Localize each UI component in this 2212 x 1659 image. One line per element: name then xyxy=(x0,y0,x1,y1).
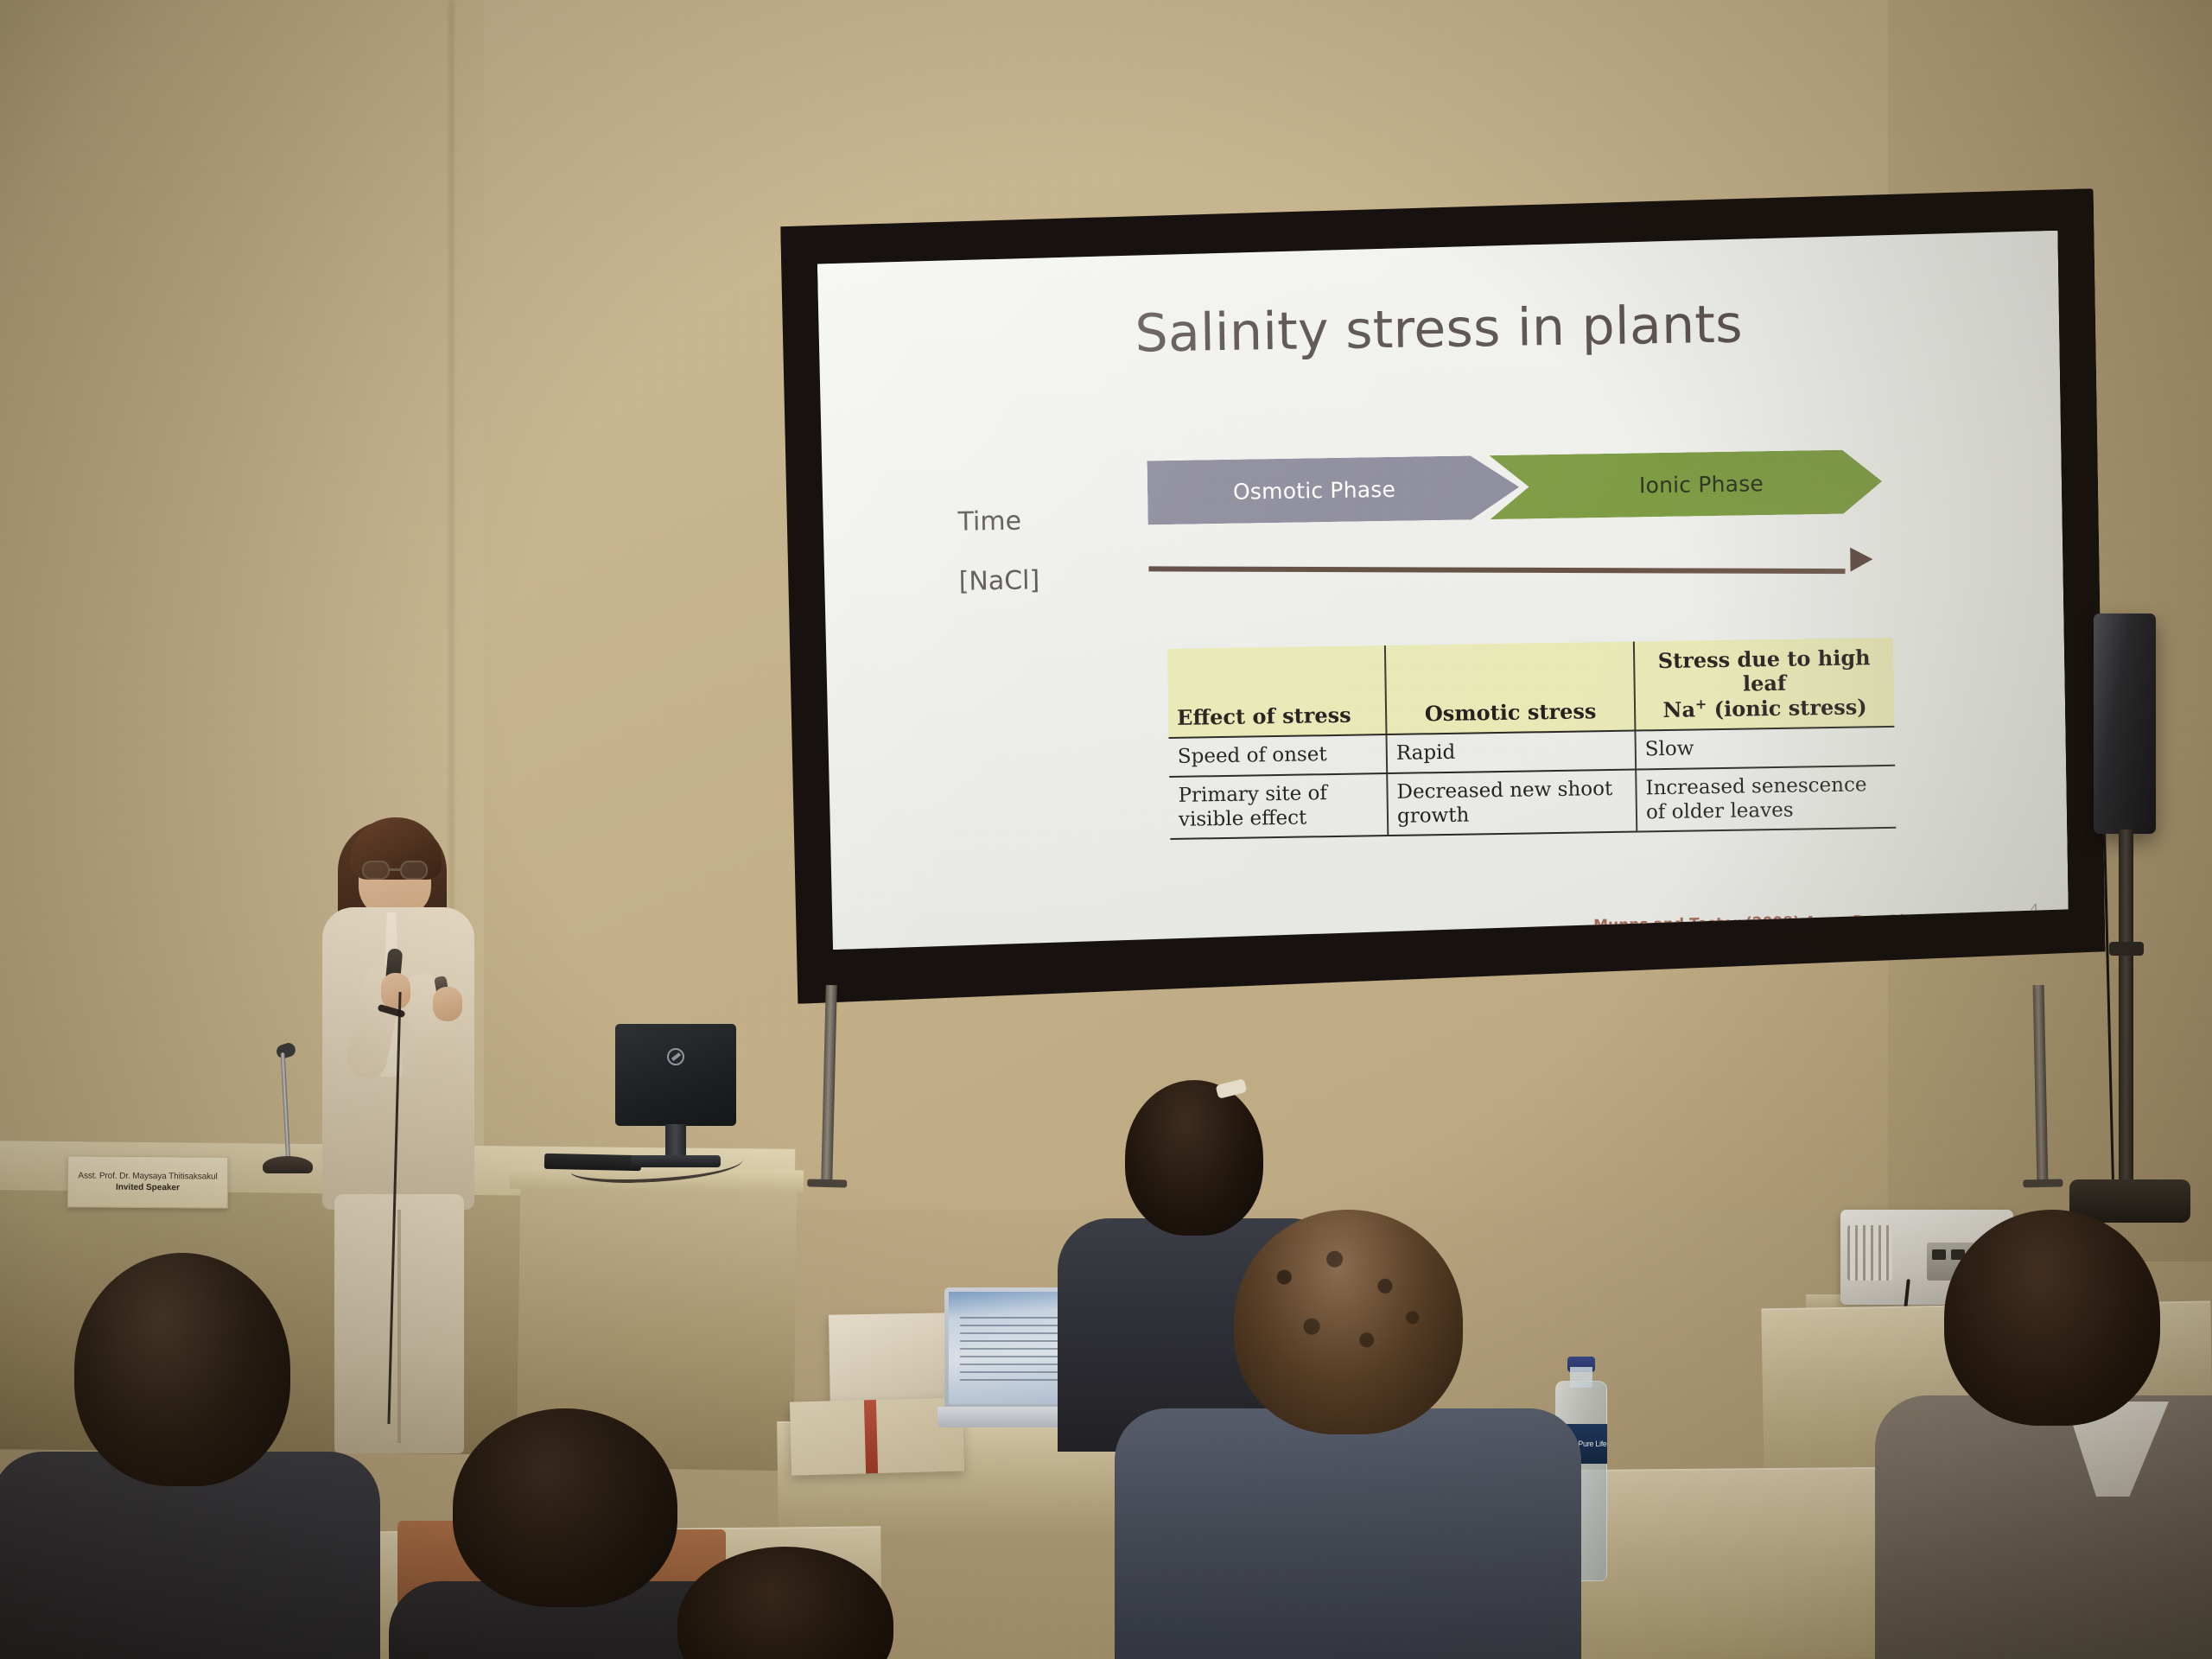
box-ribbon xyxy=(864,1400,878,1473)
nacl-label: [NaCl] xyxy=(958,565,1039,596)
time-axis-arrow xyxy=(1148,546,1872,583)
speaker-stand-pole xyxy=(2119,829,2133,1192)
stress-comparison-table: Effect of stress Osmotic stress Stress d… xyxy=(1167,638,1896,840)
audience-head xyxy=(74,1253,290,1486)
presentation-slide: Salinity stress in plants Osmotic Phase … xyxy=(817,231,2069,950)
cell-osmotic-2: Decreased new shoot growth xyxy=(1387,769,1637,836)
audience-head xyxy=(1944,1210,2160,1426)
presenter-glasses-icon xyxy=(360,861,431,880)
cell-ionic-1: Slow xyxy=(1635,727,1895,769)
speaker-cable xyxy=(2103,834,2114,1179)
projection-screen: Salinity stress in plants Osmotic Phase … xyxy=(780,188,2106,1004)
slide-title: Salinity stress in plants xyxy=(867,290,2012,369)
screen-foot-right xyxy=(2023,1179,2063,1187)
audience-shoulders xyxy=(1115,1408,1581,1659)
monitor-foot xyxy=(631,1155,721,1167)
osmotic-phase-arrow: Osmotic Phase xyxy=(1147,455,1519,525)
glasses-lens-left xyxy=(362,861,390,880)
desk-microphone-stand xyxy=(259,1046,311,1201)
audience-hair-texture xyxy=(1234,1210,1463,1434)
presenter-leg-seam xyxy=(397,1210,401,1443)
name-placard: Asst. Prof. Dr. Maysaya Thitisaksakul In… xyxy=(67,1155,228,1208)
microphone-base xyxy=(263,1156,313,1173)
header-ionic-stress: Stress due to high leaf Na+ (ionic stres… xyxy=(1634,638,1895,731)
presenter-hand-right xyxy=(433,987,462,1021)
dell-logo-icon xyxy=(667,1048,684,1065)
cell-effect-2: Primary site of visible effect xyxy=(1169,773,1388,839)
ionic-phase-arrow: Ionic Phase xyxy=(1489,449,1882,519)
glasses-lens-right xyxy=(400,861,428,880)
audience-member xyxy=(1927,1210,2212,1659)
cell-osmotic-1: Rapid xyxy=(1387,731,1637,773)
pa-speaker xyxy=(2078,613,2173,1218)
table-row: Primary site of visible effect Decreased… xyxy=(1169,765,1896,838)
screen-leg-right xyxy=(2033,985,2049,1184)
phase-arrow-diagram: Osmotic Phase Ionic Phase xyxy=(1147,449,1882,524)
audience-head xyxy=(677,1547,893,1659)
placard-role: Invited Speaker xyxy=(116,1183,180,1193)
audience-member xyxy=(52,1253,311,1659)
hair-clip xyxy=(1216,1078,1248,1099)
audience-head xyxy=(453,1408,677,1607)
monitor-neck xyxy=(665,1124,686,1159)
header-effect-of-stress: Effect of stress xyxy=(1167,645,1387,738)
presenter xyxy=(307,804,531,1460)
conference-room-scene: Salinity stress in plants Osmotic Phase … xyxy=(0,0,2212,1659)
screen-leg-left xyxy=(821,985,837,1184)
audience-member xyxy=(1210,1210,1486,1659)
audience-shoulders xyxy=(1875,1395,2212,1659)
speaker-stand-clamp xyxy=(2109,942,2144,956)
cell-ionic-2: Increased senescence of older leaves xyxy=(1636,765,1896,831)
header-ionic-superscript: + xyxy=(1695,696,1707,712)
monitor-panel xyxy=(615,1024,736,1126)
header-ionic-na: Na xyxy=(1662,696,1695,722)
microphone-gooseneck xyxy=(281,1052,291,1165)
time-label: Time xyxy=(957,505,1039,537)
arrow-shaft xyxy=(1148,566,1845,574)
dell-monitor xyxy=(615,1024,736,1175)
table-header-row: Effect of stress Osmotic stress Stress d… xyxy=(1167,638,1895,739)
speaker-cabinet xyxy=(2094,613,2156,834)
placard-name: Asst. Prof. Dr. Maysaya Thitisaksakul xyxy=(78,1171,217,1181)
header-ionic-tail: (ionic stress) xyxy=(1707,694,1867,721)
projector-vent xyxy=(1847,1225,1892,1281)
screen-stand xyxy=(799,985,2087,1192)
arrow-head-icon xyxy=(1850,547,1872,571)
cell-effect-1: Speed of onset xyxy=(1169,735,1388,777)
screen-foot-left xyxy=(807,1179,847,1187)
presenter-hand-left xyxy=(381,973,410,1009)
header-ionic-line1: Stress due to high leaf xyxy=(1658,645,1871,696)
screen-surface: Salinity stress in plants Osmotic Phase … xyxy=(817,231,2069,950)
glasses-bridge xyxy=(390,868,400,871)
header-osmotic-stress: Osmotic stress xyxy=(1385,642,1636,735)
axis-label-group: Time [NaCl] xyxy=(957,505,1040,626)
audience-member xyxy=(657,1547,916,1659)
audience-head xyxy=(1234,1210,1463,1434)
